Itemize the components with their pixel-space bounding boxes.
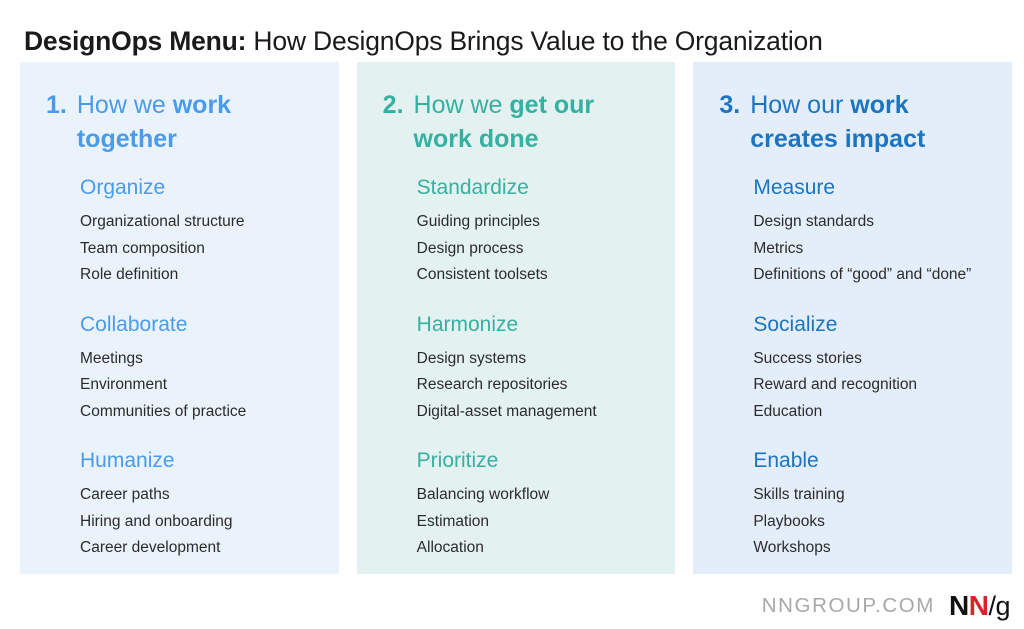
page-title-lead: DesignOps Menu:: [24, 26, 246, 56]
column-number-1: 1.: [46, 88, 67, 122]
column-groups-3: Measure Design standards Metrics Definit…: [719, 174, 996, 562]
list-item: Success stories: [753, 346, 996, 373]
infographic-page: DesignOps Menu: How DesignOps Brings Val…: [0, 0, 1024, 629]
list-item: Playbooks: [753, 509, 996, 536]
group-items-collaborate: Meetings Environment Communities of prac…: [80, 346, 323, 426]
group-title-measure: Measure: [753, 174, 996, 201]
list-item: Allocation: [417, 535, 660, 562]
list-item: Career development: [80, 535, 323, 562]
group-measure: Measure Design standards Metrics Definit…: [753, 174, 996, 289]
list-item: Definitions of “good” and “done”: [753, 262, 996, 289]
list-item: Workshops: [753, 535, 996, 562]
logo-slash: /: [988, 591, 995, 621]
column-title-2-plain: How we: [414, 91, 510, 119]
group-prioritize: Prioritize Balancing workflow Estimation…: [417, 447, 660, 562]
logo-letter-g: g: [995, 591, 1010, 621]
list-item: Education: [753, 399, 996, 426]
column-number-3: 3.: [719, 88, 740, 122]
group-items-prioritize: Balancing workflow Estimation Allocation: [417, 482, 660, 562]
list-item: Estimation: [417, 509, 660, 536]
column-title-3-plain: How our: [750, 91, 850, 119]
footer-website-label: NNGROUP.COM: [762, 594, 935, 618]
list-item: Metrics: [753, 236, 996, 263]
group-standardize: Standardize Guiding principles Design pr…: [417, 174, 660, 289]
page-title-rest: How DesignOps Brings Value to the Organi…: [246, 26, 822, 56]
column-title-1-plain: How we: [77, 91, 173, 119]
group-enable: Enable Skills training Playbooks Worksho…: [753, 447, 996, 562]
nng-logo: NN/g: [949, 591, 1010, 621]
list-item: Balancing workflow: [417, 482, 660, 509]
column-panel-1: 1. How we work together Organize Organiz…: [20, 62, 339, 574]
list-item: Organizational structure: [80, 209, 323, 236]
list-item: Guiding principles: [417, 209, 660, 236]
column-panel-2: 2. How we get our work done Standardize …: [357, 62, 676, 574]
list-item: Design process: [417, 236, 660, 263]
list-item: Design standards: [753, 209, 996, 236]
column-groups-1: Organize Organizational structure Team c…: [46, 174, 323, 562]
list-item: Consistent toolsets: [417, 262, 660, 289]
group-title-organize: Organize: [80, 174, 323, 201]
list-item: Skills training: [753, 482, 996, 509]
group-organize: Organize Organizational structure Team c…: [80, 174, 323, 289]
list-item: Environment: [80, 372, 323, 399]
list-item: Communities of practice: [80, 399, 323, 426]
footer: NNGROUP.COM NN/g: [762, 591, 1010, 621]
group-title-socialize: Socialize: [753, 311, 996, 338]
column-header-3: 3. How our work creates impact: [719, 88, 996, 156]
group-socialize: Socialize Success stories Reward and rec…: [753, 311, 996, 426]
column-number-2: 2.: [383, 88, 404, 122]
group-items-organize: Organizational structure Team compositio…: [80, 209, 323, 289]
logo-letter-n-black: N: [949, 591, 969, 621]
column-title-3: How our work creates impact: [750, 88, 996, 156]
list-item: Research repositories: [417, 372, 660, 399]
group-title-prioritize: Prioritize: [417, 447, 660, 474]
column-header-1: 1. How we work together: [46, 88, 323, 156]
group-title-harmonize: Harmonize: [417, 311, 660, 338]
group-title-enable: Enable: [753, 447, 996, 474]
list-item: Design systems: [417, 346, 660, 373]
page-title: DesignOps Menu: How DesignOps Brings Val…: [24, 24, 1009, 58]
group-items-harmonize: Design systems Research repositories Dig…: [417, 346, 660, 426]
group-collaborate: Collaborate Meetings Environment Communi…: [80, 311, 323, 426]
columns-container: 1. How we work together Organize Organiz…: [20, 62, 1012, 574]
list-item: Meetings: [80, 346, 323, 373]
column-header-2: 2. How we get our work done: [383, 88, 660, 156]
group-title-collaborate: Collaborate: [80, 311, 323, 338]
list-item: Career paths: [80, 482, 323, 509]
list-item: Role definition: [80, 262, 323, 289]
group-title-humanize: Humanize: [80, 447, 323, 474]
group-harmonize: Harmonize Design systems Research reposi…: [417, 311, 660, 426]
group-title-standardize: Standardize: [417, 174, 660, 201]
column-title-1: How we work together: [77, 88, 323, 156]
group-items-enable: Skills training Playbooks Workshops: [753, 482, 996, 562]
group-items-humanize: Career paths Hiring and onboarding Caree…: [80, 482, 323, 562]
list-item: Reward and recognition: [753, 372, 996, 399]
list-item: Digital-asset management: [417, 399, 660, 426]
group-items-socialize: Success stories Reward and recognition E…: [753, 346, 996, 426]
group-items-standardize: Guiding principles Design process Consis…: [417, 209, 660, 289]
group-items-measure: Design standards Metrics Definitions of …: [753, 209, 996, 289]
column-panel-3: 3. How our work creates impact Measure D…: [693, 62, 1012, 574]
list-item: Hiring and onboarding: [80, 509, 323, 536]
column-groups-2: Standardize Guiding principles Design pr…: [383, 174, 660, 562]
logo-letter-n-red: N: [969, 591, 989, 621]
list-item: Team composition: [80, 236, 323, 263]
column-title-2: How we get our work done: [414, 88, 660, 156]
group-humanize: Humanize Career paths Hiring and onboard…: [80, 447, 323, 562]
